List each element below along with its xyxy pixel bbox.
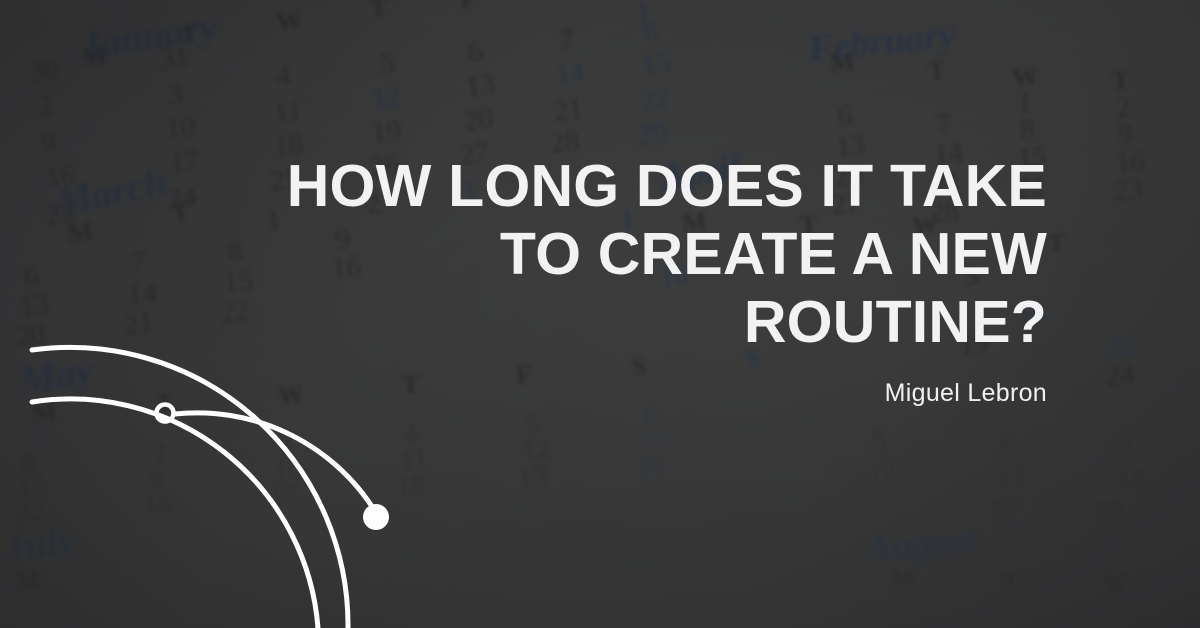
title-line-1: HOW LONG DOES IT TAKE: [207, 152, 1047, 220]
social-share-card: January M T W T F S S 30 31 1 2 3 4 5 6 …: [0, 0, 1200, 628]
title-line-2: TO CREATE A NEW: [207, 220, 1047, 288]
title-line-3: ROUTINE?: [207, 288, 1047, 356]
headline-block: HOW LONG DOES IT TAKE TO CREATE A NEW RO…: [207, 152, 1047, 408]
page-title: HOW LONG DOES IT TAKE TO CREATE A NEW RO…: [207, 152, 1047, 356]
author-name: Miguel Lebron: [207, 378, 1047, 408]
